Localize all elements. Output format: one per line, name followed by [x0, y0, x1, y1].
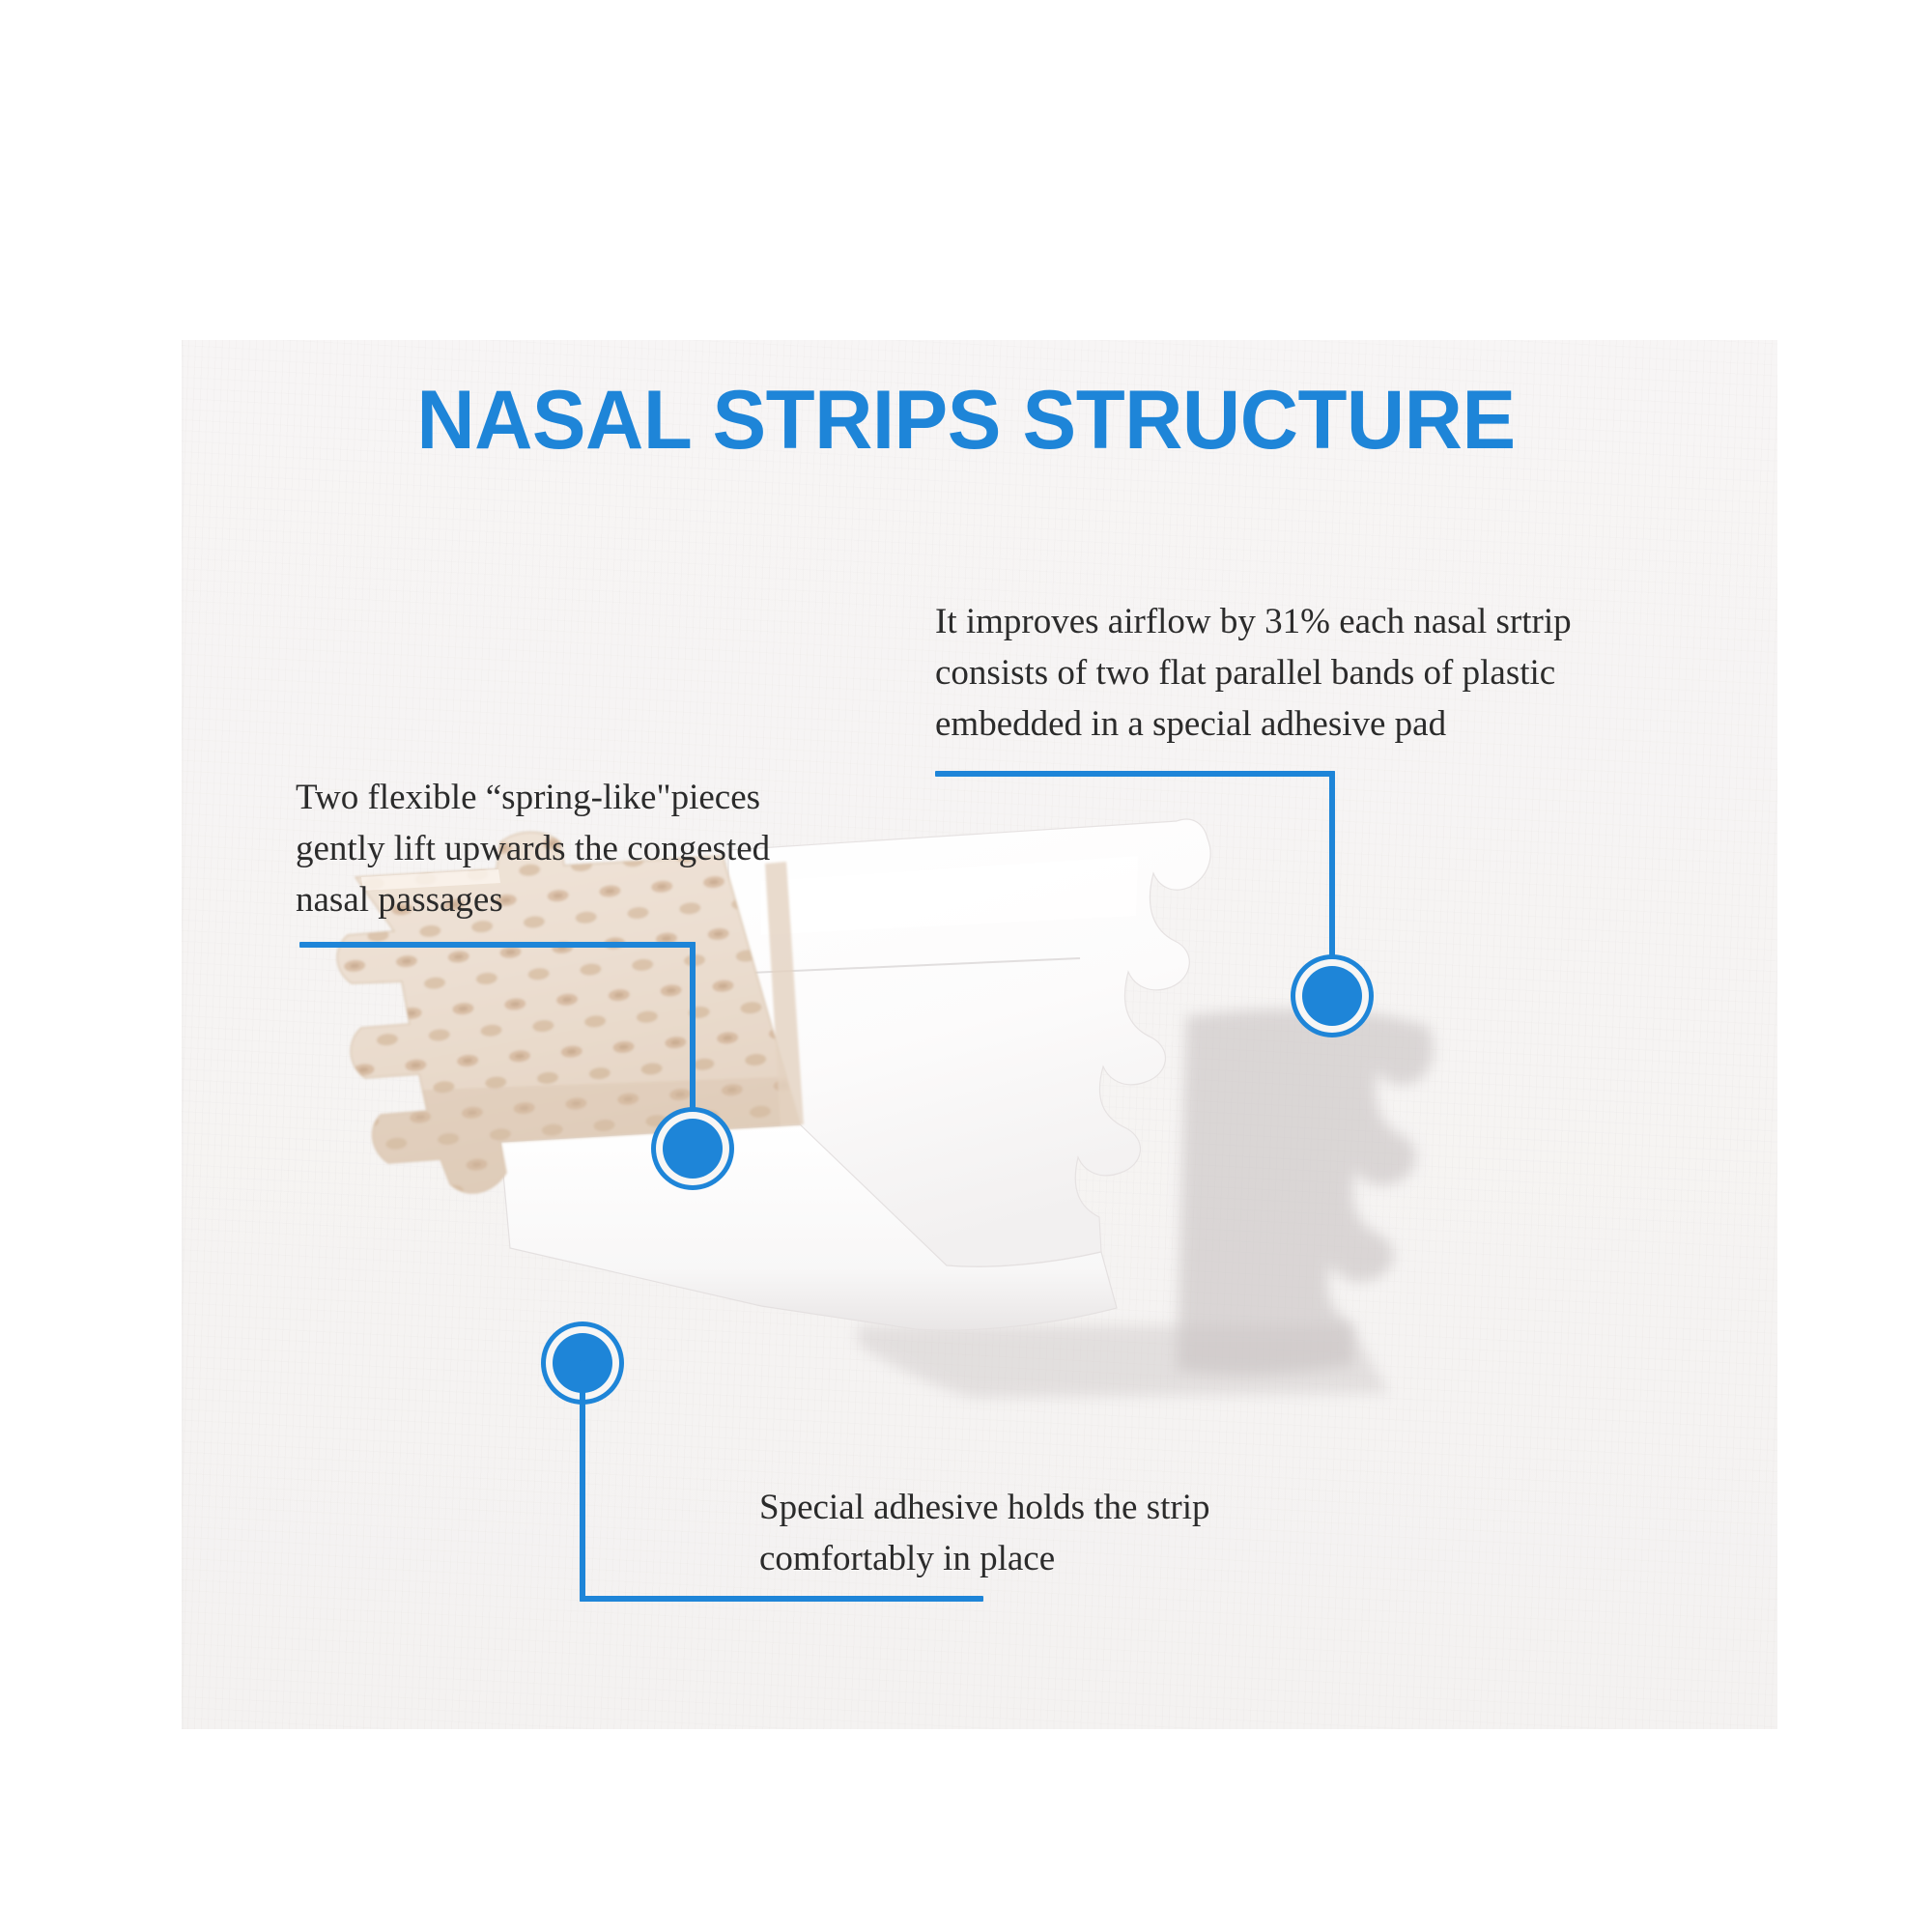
connector-vertical-plastic-bands: [1329, 771, 1335, 983]
page-title: NASAL STRIPS STRUCTURE: [29, 379, 1903, 462]
callout-marker-plastic-bands[interactable]: [1302, 966, 1362, 1026]
callout-text-plastic-bands: It improves airflow by 31% each nasal sr…: [935, 597, 1572, 751]
connector-horizontal-adhesive: [580, 1596, 983, 1602]
strip-cast-shadow: [1177, 1009, 1433, 1375]
connector-horizontal-spring-pieces: [299, 942, 696, 948]
connector-vertical-spring-pieces: [690, 942, 696, 1135]
callout-marker-spring-pieces[interactable]: [663, 1119, 723, 1179]
connector-vertical-adhesive: [580, 1360, 585, 1602]
strip-lower-shadow: [858, 1325, 1389, 1398]
connector-horizontal-plastic-bands: [935, 771, 1335, 777]
infographic-canvas: NASAL STRIPS STRUCTURE It improves airfl…: [0, 0, 1932, 1932]
callout-text-spring-pieces: Two flexible “spring-like"pieces gently …: [296, 773, 770, 926]
callout-text-adhesive: Special adhesive holds the strip comfort…: [759, 1483, 1210, 1585]
